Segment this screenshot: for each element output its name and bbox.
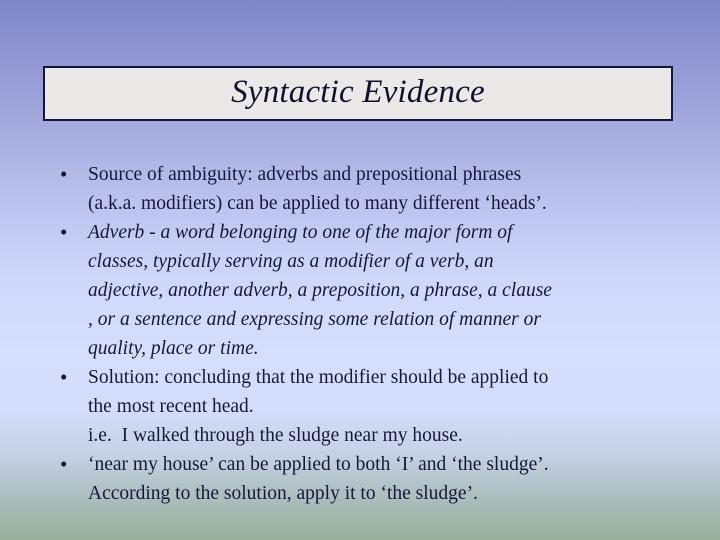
bullet-item: • Solution: concluding that the modifier…: [58, 363, 688, 421]
bullet-marker-icon: •: [60, 450, 67, 479]
bullet-line: Adverb - a word belonging to one of the …: [88, 218, 688, 247]
bullet-marker-icon: •: [60, 363, 67, 392]
slide-title-box: Syntactic Evidence: [43, 66, 673, 121]
bullet-line: ‘near my house’ can be applied to both ‘…: [88, 450, 688, 479]
bullet-marker-icon: •: [60, 218, 67, 247]
bullet-line: classes, typically serving as a modifier…: [88, 247, 688, 276]
bullet-text: Adverb - a word belonging to one of the …: [88, 218, 688, 363]
bullet-text: ‘near my house’ can be applied to both ‘…: [88, 450, 688, 508]
bullet-marker-icon: •: [60, 160, 67, 189]
bullet-line: adjective, another adverb, a preposition…: [88, 276, 688, 305]
bullet-line: , or a sentence and expressing some rela…: [88, 305, 688, 334]
presentation-slide: Syntactic Evidence • Source of ambiguity…: [0, 0, 720, 540]
bullet-line: quality, place or time.: [88, 334, 688, 363]
bullet-line: According to the solution, apply it to ‘…: [88, 479, 688, 508]
bullet-item: • ‘near my house’ can be applied to both…: [58, 450, 688, 508]
bullet-line: Solution: concluding that the modifier s…: [88, 363, 688, 392]
bullet-item: • Adverb - a word belonging to one of th…: [58, 218, 688, 363]
bullet-item: • Source of ambiguity: adverbs and prepo…: [58, 160, 688, 218]
slide-body: • Source of ambiguity: adverbs and prepo…: [58, 160, 688, 508]
slide-title: Syntactic Evidence: [231, 76, 485, 112]
example-line: i.e. I walked through the sludge near my…: [58, 421, 688, 450]
bullet-line: the most recent head.: [88, 392, 688, 421]
bullet-line: (a.k.a. modifiers) can be applied to man…: [88, 189, 688, 218]
bullet-text: Source of ambiguity: adverbs and preposi…: [88, 160, 688, 218]
bullet-line: Source of ambiguity: adverbs and preposi…: [88, 160, 688, 189]
bullet-text: Solution: concluding that the modifier s…: [88, 363, 688, 421]
